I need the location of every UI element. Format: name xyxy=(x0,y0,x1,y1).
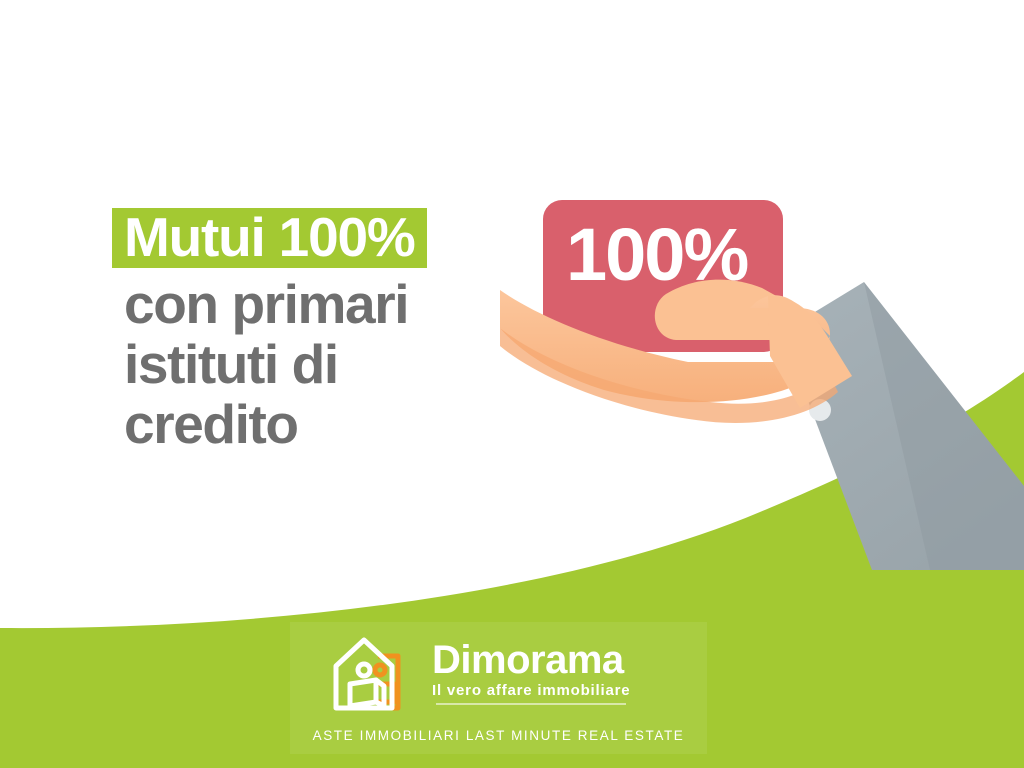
promo-banner: Mutui 100% con primari istituti di credi… xyxy=(0,0,1024,768)
house-logo-icon xyxy=(330,634,426,716)
logo-divider xyxy=(436,703,626,705)
logo-caption: ASTE IMMOBILIARI LAST MINUTE REAL ESTATE xyxy=(290,728,707,744)
logo-lockup[interactable]: Dimorama Il vero affare immobiliare xyxy=(330,634,670,716)
headline-line-3: credito xyxy=(124,396,554,453)
logo-text-block: Dimorama Il vero affare immobiliare xyxy=(432,634,630,705)
logo-name: Dimorama xyxy=(432,640,624,680)
logo-tagline: Il vero affare immobiliare xyxy=(432,682,630,700)
hand-holding-card-illustration xyxy=(500,170,1024,570)
headline-line-2: istituti di xyxy=(124,336,554,393)
headline-block: Mutui 100% con primari istituti di credi… xyxy=(124,208,554,456)
headline-highlight: Mutui 100% xyxy=(112,208,427,268)
headline-subtext: con primari istituti di credito xyxy=(124,276,554,453)
headline-line-1: con primari xyxy=(124,276,554,333)
